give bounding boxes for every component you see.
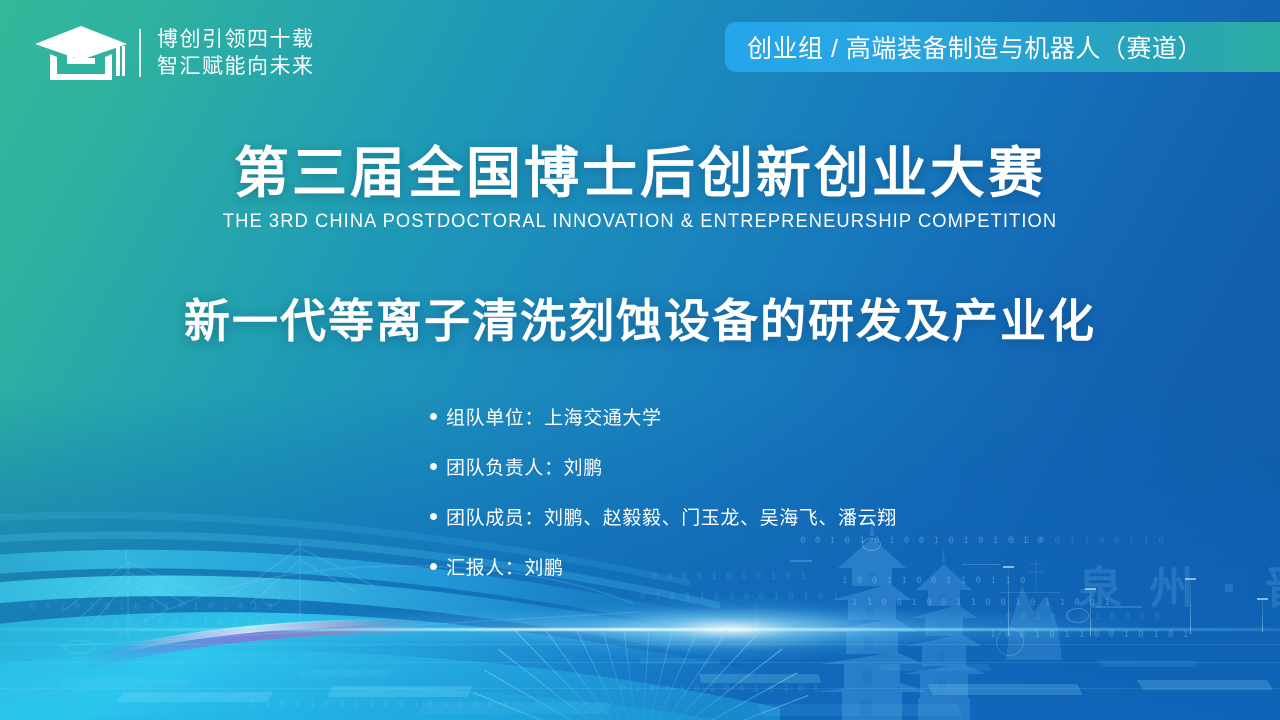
list-item: 组队单位：上海交通大学	[430, 403, 897, 430]
detail-text: 团队负责人：刘鹏	[446, 453, 603, 480]
list-item: 团队负责人：刘鹏	[430, 453, 897, 480]
bullet-icon	[430, 513, 437, 520]
track-badge-label: 创业组 / 高端装备制造与机器人（赛道）	[747, 29, 1203, 65]
project-details-list: 组队单位：上海交通大学 团队负责人：刘鹏 团队成员：刘鹏、赵毅毅、门玉龙、吴海飞…	[430, 403, 897, 603]
presentation-slide: 泉 州 · 晋 江 0 0 1 0 1 0 1 0 0 1 0 1 0 1 0 …	[0, 0, 1280, 720]
slide-header: 博创引领四十载 智汇赋能向未来 创业组 / 高端装备制造与机器人（赛道）	[0, 0, 1280, 104]
bullet-icon	[430, 413, 437, 420]
list-item: 团队成员：刘鹏、赵毅毅、门玉龙、吴海飞、潘云翔	[430, 503, 897, 530]
graduation-cap-svg	[33, 24, 129, 82]
brand-slogan-line-1: 博创引领四十载	[157, 26, 315, 53]
brand-slogan-line-2: 智汇赋能向未来	[157, 53, 315, 80]
competition-main-title: 第三届全国博士后创新创业大赛	[0, 140, 1280, 206]
brand-logo-group: 博创引领四十载 智汇赋能向未来	[33, 24, 315, 82]
bullet-icon	[430, 563, 437, 570]
logo-divider	[139, 29, 141, 77]
list-item: 汇报人：刘鹏	[430, 553, 897, 580]
brand-slogan: 博创引领四十载 智汇赋能向未来	[157, 26, 315, 80]
city-watermark: 泉 州 · 晋 江	[1078, 552, 1280, 616]
detail-text: 团队成员：刘鹏、赵毅毅、门玉龙、吴海飞、潘云翔	[446, 503, 897, 530]
competition-title-block: 第三届全国博士后创新创业大赛 THE 3RD CHINA POSTDOCTORA…	[0, 140, 1280, 233]
detail-text: 组队单位：上海交通大学	[446, 403, 662, 430]
detail-text: 汇报人：刘鹏	[446, 553, 564, 580]
background-perspective-floor	[0, 630, 1280, 720]
bullet-icon	[430, 463, 437, 470]
project-title: 新一代等离子清洗刻蚀设备的研发及产业化	[0, 285, 1280, 351]
competition-sub-title: THE 3RD CHINA POSTDOCTORAL INNOVATION & …	[38, 210, 1241, 233]
track-badge: 创业组 / 高端装备制造与机器人（赛道）	[725, 22, 1280, 72]
graduation-cap-logo-icon	[33, 24, 129, 82]
